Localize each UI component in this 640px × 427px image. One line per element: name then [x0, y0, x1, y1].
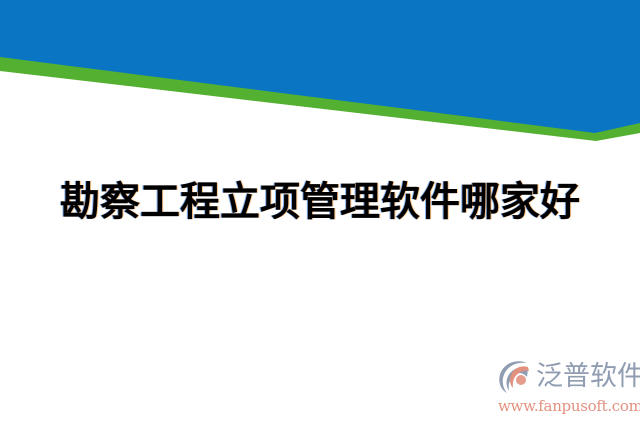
- page-title: 勘察工程立项管理软件哪家好: [0, 176, 640, 228]
- banner-blue-shape: [0, 0, 640, 133]
- slide-canvas: 勘察工程立项管理软件哪家好 泛普软件 www.fanpusoft.com: [0, 0, 640, 427]
- logo-url: www.fanpusoft.com: [498, 397, 632, 415]
- decorative-banner: [0, 0, 640, 160]
- brand-logo: 泛普软件 www.fanpusoft.com: [496, 357, 632, 419]
- fanpu-swoosh-icon: [496, 358, 534, 396]
- banner-green-shape: [0, 0, 640, 141]
- logo-wordmark: 泛普软件: [536, 362, 640, 392]
- logo-row: 泛普软件: [496, 357, 640, 397]
